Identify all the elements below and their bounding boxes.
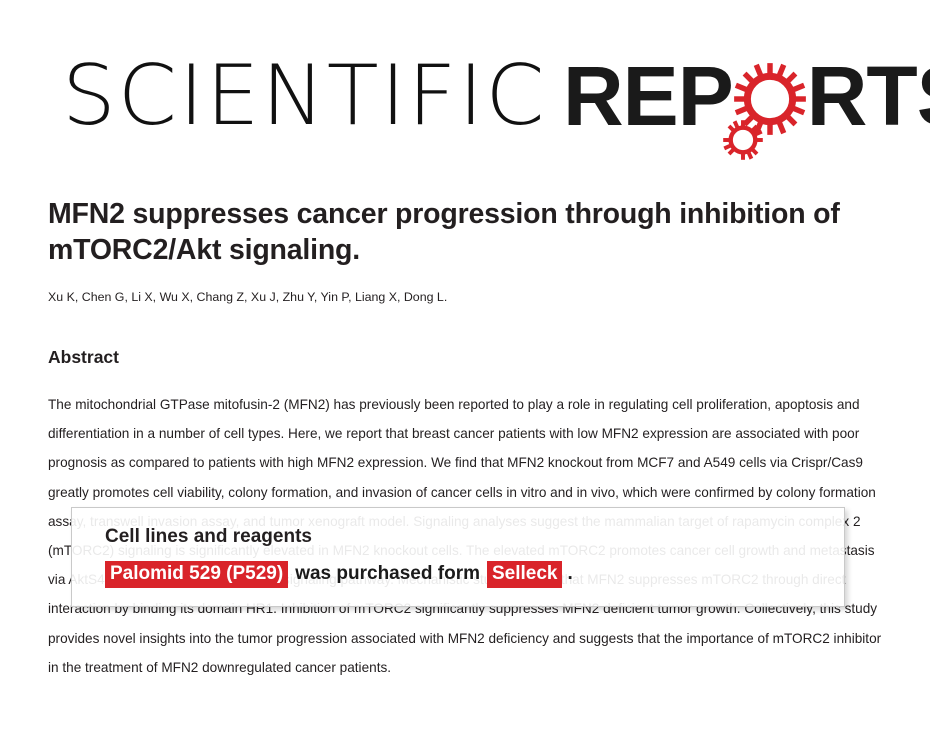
cell-lines-overlay-card: Cell lines and reagents Palomid 529 (P52… [71,507,845,607]
logo-word-scientific: SCIENTIFIC [62,52,547,140]
gear-small-icon [721,118,765,162]
scientific-reports-logo: SCIENTIFIC REP [62,52,930,152]
logo-letters-rep: REP [563,52,733,140]
overlay-sentence: Palomid 529 (P529) was purchased form Se… [105,561,573,588]
article-container: MFN2 suppresses cancer progression throu… [48,196,896,682]
abstract-heading: Abstract [48,346,896,368]
logo-letters-rts: RTS [807,52,930,140]
overlay-middle-text: was purchased form [288,561,487,587]
author-list: Xu K, Chen G, Li X, Wu X, Chang Z, Xu J,… [48,289,896,305]
journal-masthead: SCIENTIFIC REP [0,0,930,185]
overlay-heading: Cell lines and reagents [105,525,312,549]
logo-word-reports: REP [563,52,930,140]
highlight-palomid-529: Palomid 529 (P529) [105,561,288,588]
highlight-selleck: Selleck [487,561,563,588]
logo-gear-group [733,52,807,140]
overlay-trailing-punctuation: . [562,561,572,587]
article-title: MFN2 suppresses cancer progression throu… [48,196,868,268]
